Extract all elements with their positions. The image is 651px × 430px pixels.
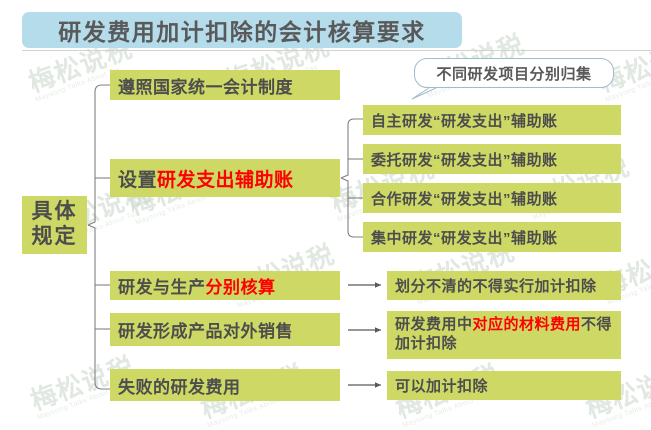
node-failed-rd-expense[interactable]: 失败的研发费用 [110,369,340,401]
title-divider [22,50,651,51]
node-label-wrap: 研发费用中对应的材料费用不得加计扣除 [395,316,613,354]
node-label: 集中研发“研发支出”辅助账 [371,227,558,248]
result-unclear-division[interactable]: 划分不清的不得实行加计扣除 [387,271,621,300]
root-node[interactable]: 具体 规定 [22,196,87,254]
node-accounting-system[interactable]: 遵照国家统一会计制度 [110,70,340,100]
root-node-line1: 具体 [32,200,78,225]
page-title: 研发费用加计扣除的会计核算要求 [22,12,462,48]
node-cooperative-rd-account[interactable]: 合作研发“研发支出”辅助账 [363,183,621,213]
node-product-external-sale[interactable]: 研发形成产品对外销售 [110,313,340,346]
node-label-highlight: 研发支出辅助账 [157,165,294,192]
node-label: 自主研发“研发支出”辅助账 [371,110,558,131]
node-entrusted-rd-account[interactable]: 委托研发“研发支出”辅助账 [363,144,621,174]
node-auxiliary-account[interactable]: 设置研发支出辅助账 [110,159,340,197]
node-label: 可以加计扣除 [395,375,488,396]
node-label-highlight: 对应的材料费用 [473,316,582,333]
diagram-canvas: 梅松说税Maysong Talks About Tax 梅松说税Maysong … [0,0,651,417]
node-self-rd-account[interactable]: 自主研发“研发支出”辅助账 [363,105,621,135]
node-centralized-rd-account[interactable]: 集中研发“研发支出”辅助账 [363,222,621,252]
root-node-line2: 规定 [32,225,78,250]
node-label-highlight: 分别核算 [206,273,276,298]
callout-bubble[interactable]: 不同研发项目分别归集 [414,58,614,88]
result-material-cost[interactable]: 研发费用中对应的材料费用不得加计扣除 [387,311,621,359]
node-label: 研发形成产品对外销售 [118,317,293,342]
node-label: 委托研发“研发支出”辅助账 [371,149,558,170]
node-label: 研发与生产 [118,273,206,298]
node-label: 研发费用中 [395,316,473,333]
result-deductible[interactable]: 可以加计扣除 [387,371,621,400]
node-label: 合作研发“研发支出”辅助账 [371,188,558,209]
node-label: 设置 [118,165,157,192]
node-separate-accounting[interactable]: 研发与生产分别核算 [110,271,340,300]
node-label: 遵照国家统一会计制度 [118,73,293,98]
node-label: 划分不清的不得实行加计扣除 [395,275,597,296]
node-label: 失败的研发费用 [118,373,241,398]
